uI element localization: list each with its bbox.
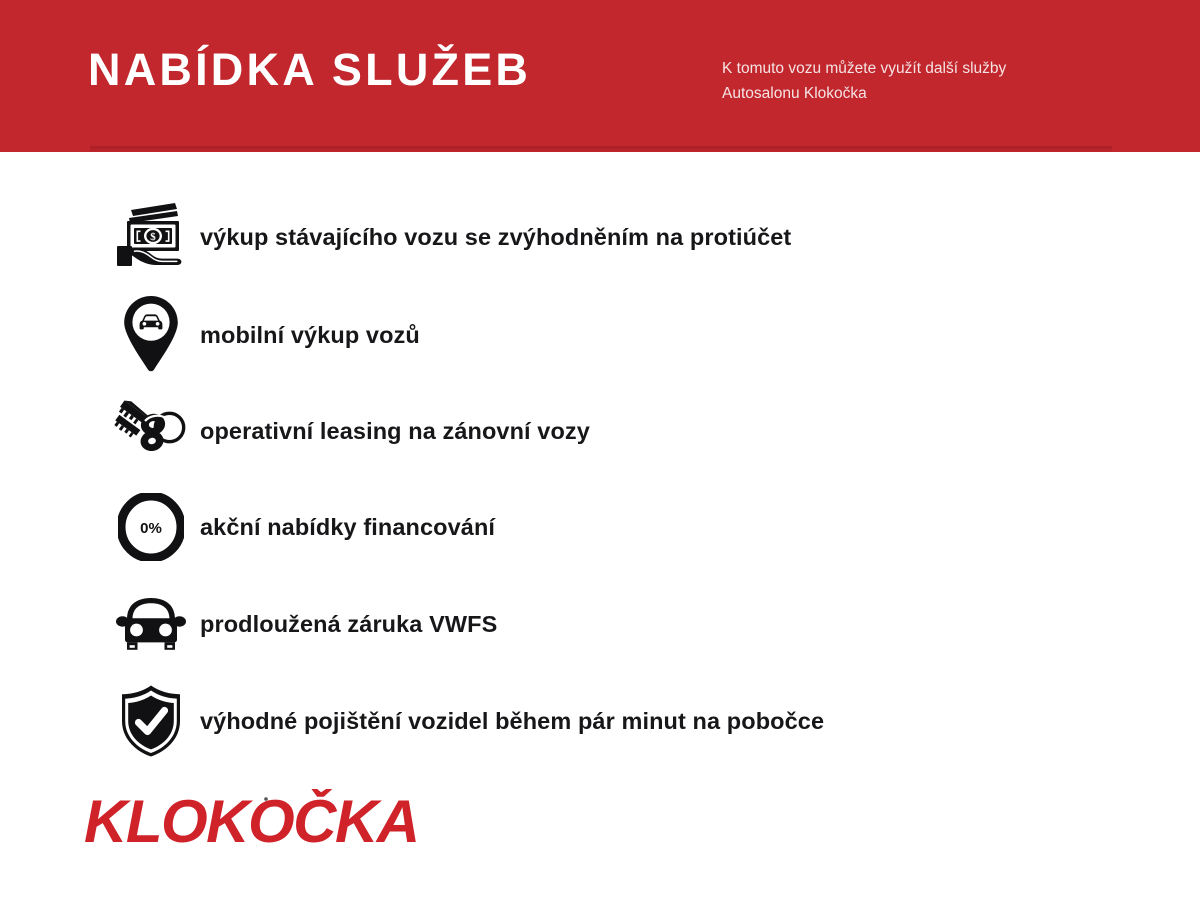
car-keys-icon bbox=[112, 389, 190, 473]
hand-holding-money-icon: $ bbox=[112, 195, 190, 279]
service-item-mobile-purchase: mobilní výkup vozů bbox=[112, 287, 420, 383]
zero-percent-label: 0% bbox=[140, 520, 162, 537]
service-item-label: akční nabídky financování bbox=[200, 514, 495, 541]
banner-bottom-shadow bbox=[90, 146, 1112, 152]
service-item-label: operativní leasing na zánovní vozy bbox=[200, 418, 590, 445]
map-pin-car-icon bbox=[112, 293, 190, 377]
service-item-label: mobilní výkup vozů bbox=[200, 322, 420, 349]
shield-check-icon bbox=[112, 679, 190, 763]
svg-text:$: $ bbox=[150, 231, 156, 243]
car-front-icon bbox=[112, 582, 190, 666]
zero-percent-ring-icon: 0% bbox=[112, 485, 190, 569]
header-subtitle-line-1: K tomuto vozu můžete využít další služby bbox=[722, 56, 1142, 81]
header-subtitle: K tomuto vozu můžete využít další služby… bbox=[722, 56, 1142, 106]
service-item-operational-leasing: operativní leasing na zánovní vozy bbox=[112, 383, 590, 479]
service-item-extended-warranty: prodloužená záruka VWFS bbox=[112, 576, 497, 672]
header-banner: NABÍDKA SLUŽEB K tomuto vozu můžete využ… bbox=[0, 0, 1200, 152]
service-item-financing-offers: 0% akční nabídky financování bbox=[112, 479, 495, 575]
service-item-label: výkup stávajícího vozu se zvýhodněním na… bbox=[200, 224, 791, 251]
header-banner-content: NABÍDKA SLUŽEB K tomuto vozu můžete využ… bbox=[0, 0, 1200, 152]
service-item-label: prodloužená záruka VWFS bbox=[200, 611, 497, 638]
service-item-trade-in: $ výkup stávajícího vozu se zvýhodněním … bbox=[112, 189, 791, 285]
service-item-insurance: výhodné pojištění vozidel během pár minu… bbox=[112, 673, 824, 769]
service-item-label: výhodné pojištění vozidel během pár minu… bbox=[200, 708, 824, 735]
klokocka-logo: KLOKOČKA bbox=[84, 789, 474, 855]
page-title: NABÍDKA SLUŽEB bbox=[88, 47, 531, 92]
header-subtitle-line-2: Autosalonu Klokočka bbox=[722, 81, 1142, 106]
klokocka-logo-text: KLOKOČKA bbox=[84, 789, 419, 855]
